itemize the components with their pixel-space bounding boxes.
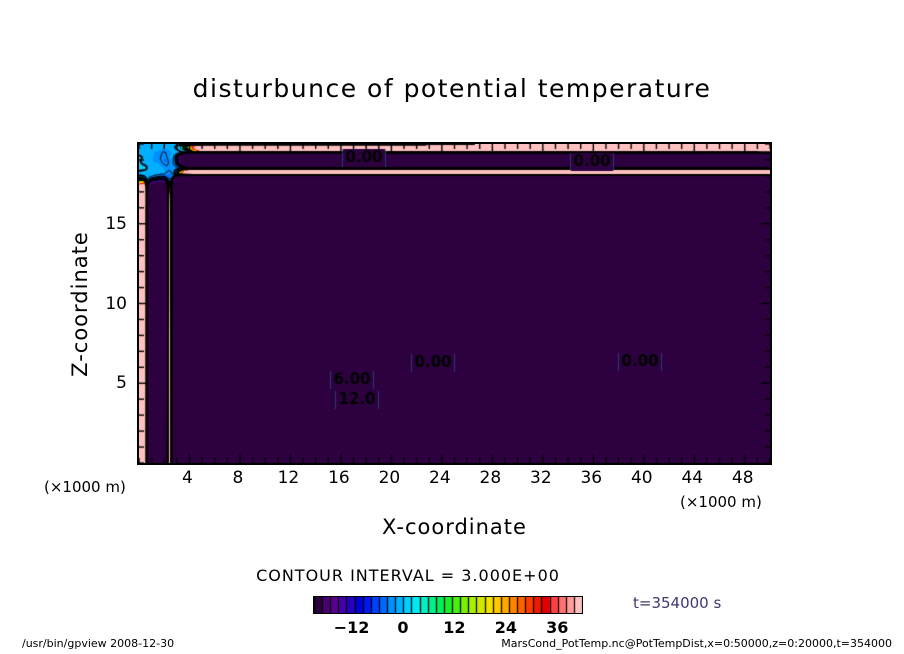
x-tick-32: 32 — [530, 468, 552, 488]
colorbar-tick--12: −12 — [334, 618, 370, 637]
contour-plot-canvas — [139, 144, 770, 463]
y-tick-10: 10 — [105, 294, 127, 314]
y-axis-tick-labels: 51015 — [95, 142, 131, 465]
x-tick-20: 20 — [379, 468, 401, 488]
colorbar[interactable] — [313, 596, 583, 614]
x-tick-8: 8 — [233, 468, 244, 488]
colorbar-tick-36: 36 — [546, 618, 568, 637]
footer-command: /usr/bin/gpview 2008-12-30 — [22, 637, 174, 650]
colorbar-canvas — [314, 597, 582, 613]
x-tick-40: 40 — [631, 468, 653, 488]
y-tick-15: 15 — [105, 214, 127, 234]
colorbar-tick-labels: −120122436 — [313, 618, 583, 638]
x-tick-4: 4 — [182, 468, 193, 488]
x-tick-36: 36 — [580, 468, 602, 488]
contour-plot-panel[interactable] — [137, 142, 772, 465]
page-title: disturbunce of potential temperature — [0, 74, 904, 103]
x-tick-48: 48 — [732, 468, 754, 488]
y-tick-5: 5 — [116, 373, 127, 393]
colorbar-tick-12: 12 — [443, 618, 465, 637]
x-axis-tick-labels: 4812162024283236404448 — [137, 468, 772, 492]
time-label: t=354000 s — [633, 594, 721, 612]
y-axis-unit-label: (×1000 m) — [44, 478, 126, 496]
colorbar-title-text: CONTOUR INTERVAL = 3.000E+00 — [256, 566, 560, 585]
colorbar-tick-0: 0 — [397, 618, 408, 637]
x-tick-16: 16 — [328, 468, 350, 488]
colorbar-tick-24: 24 — [495, 618, 517, 637]
colorbar-title: CONTOUR INTERVAL = 3.000E+00 — [0, 566, 904, 585]
x-tick-24: 24 — [429, 468, 451, 488]
x-axis-label: X-coordinate — [137, 515, 772, 539]
x-axis-unit-label: (×1000 m) — [680, 493, 762, 511]
x-tick-44: 44 — [681, 468, 703, 488]
x-tick-28: 28 — [480, 468, 502, 488]
x-tick-12: 12 — [278, 468, 300, 488]
footer-datasource: MarsCond_PotTemp.nc@PotTempDist,x=0:5000… — [501, 637, 892, 650]
y-axis-label: Z-coordinate — [68, 184, 92, 424]
